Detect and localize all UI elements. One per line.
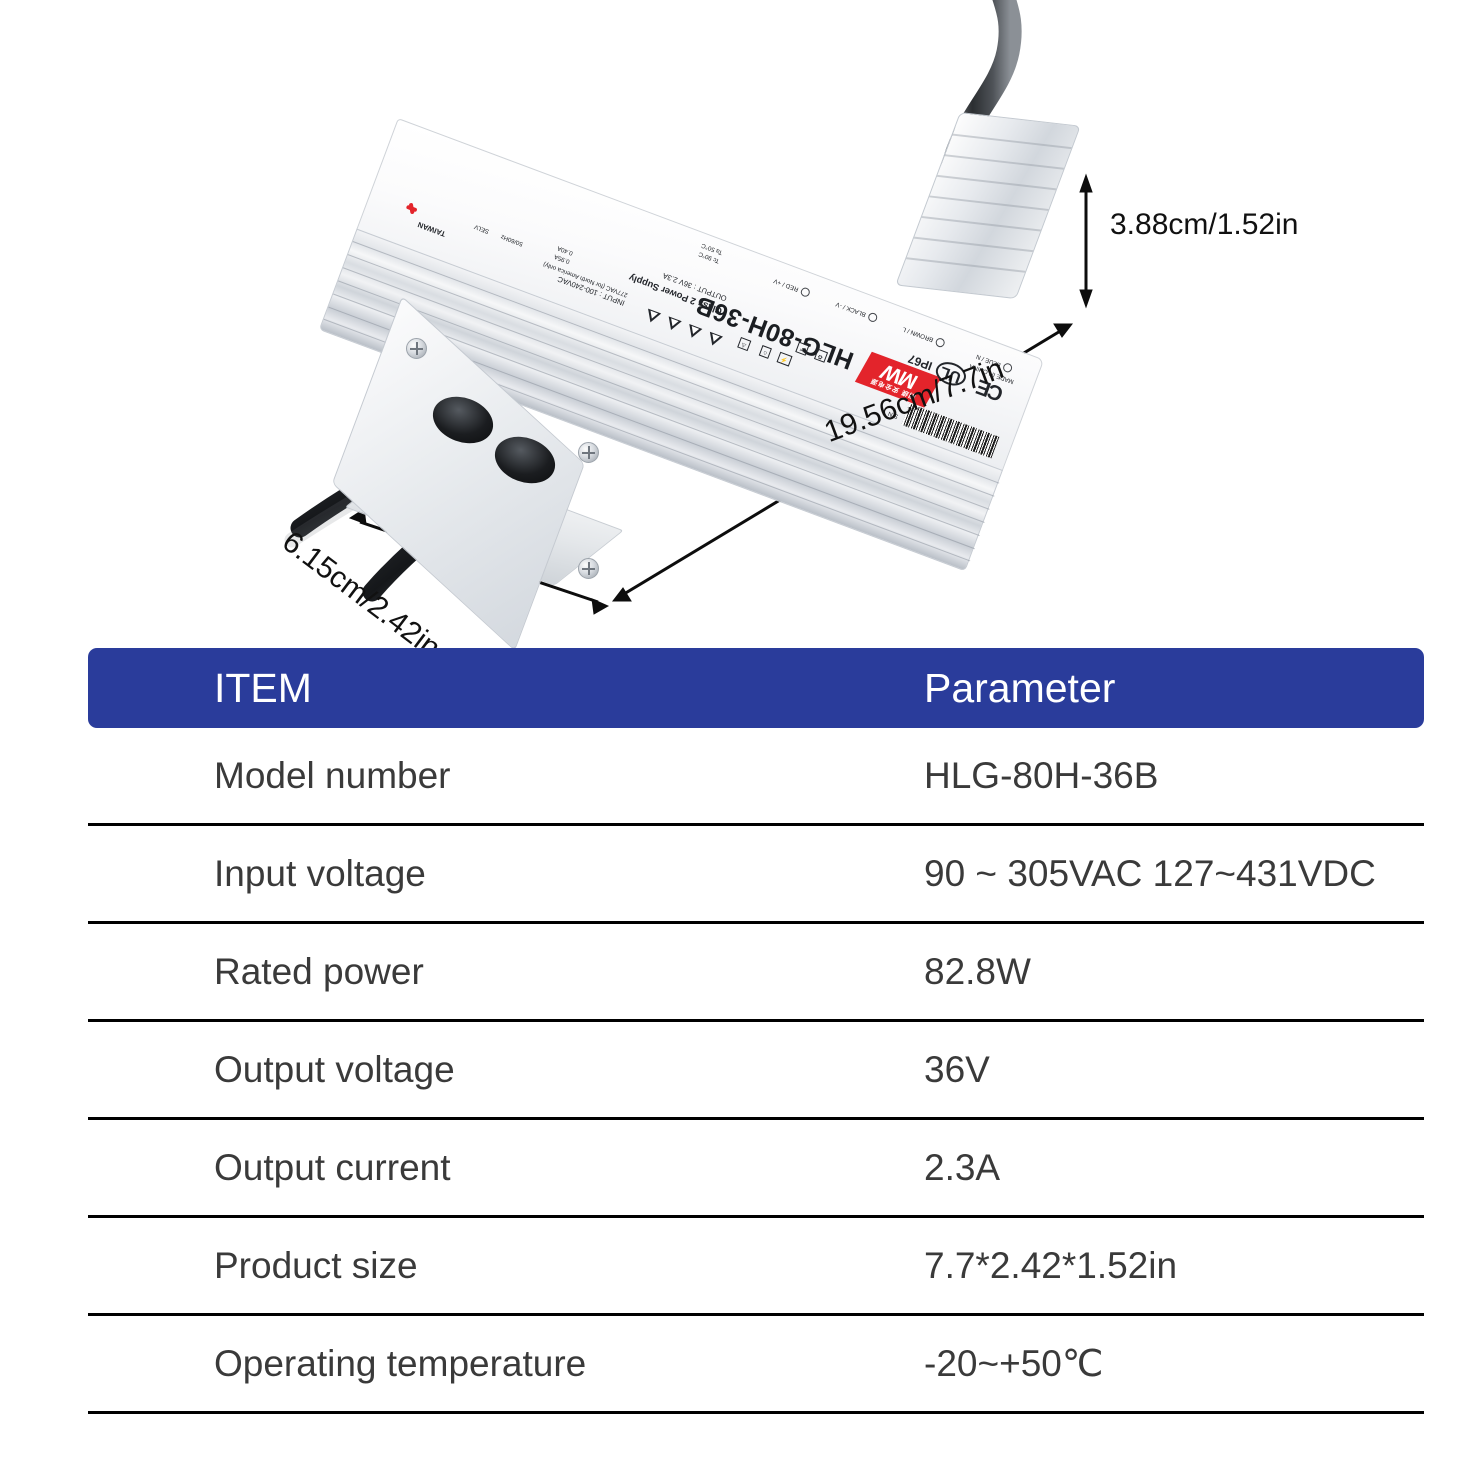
wire-dot-icon-2 xyxy=(934,337,946,349)
specification-table: ITEM Parameter Model number HLG-80H-36B … xyxy=(88,648,1424,1414)
table-row: Product size 7.7*2.42*1.52in xyxy=(88,1218,1424,1316)
label-selv: SELV xyxy=(473,222,490,235)
row-item-label: Product size xyxy=(214,1245,924,1287)
screw-top xyxy=(578,442,599,463)
row-item-label: Operating temperature xyxy=(214,1343,924,1385)
wire-legend-4: RED / +V xyxy=(772,276,811,298)
taiwan-flower-icon xyxy=(404,196,422,217)
table-header-row: ITEM Parameter xyxy=(88,648,1424,728)
row-item-label: Output current xyxy=(214,1147,924,1189)
cert-box-icon-2: ⌂ xyxy=(757,345,772,365)
warning-triangle-icon-4 xyxy=(644,309,661,325)
column-header-parameter: Parameter xyxy=(924,665,1115,712)
row-item-label: Rated power xyxy=(214,951,924,993)
label-input-freq: 50/60Hz xyxy=(500,232,524,248)
row-item-label: Model number xyxy=(214,755,924,797)
table-row: Model number HLG-80H-36B xyxy=(88,728,1424,826)
table-row: Output current 2.3A xyxy=(88,1120,1424,1218)
label-model-text: HLG-80H-36B xyxy=(691,289,857,375)
table-row: Input voltage 90 ~ 305VAC 127~431VDC xyxy=(88,826,1424,924)
screw-bottom xyxy=(578,558,599,579)
row-item-value: 36V xyxy=(924,1049,990,1091)
row-item-value: 2.3A xyxy=(924,1147,1000,1189)
table-row: Operating temperature -20~+50℃ xyxy=(88,1316,1424,1414)
warning-triangle-icon-2 xyxy=(685,324,702,340)
row-item-value: 7.7*2.42*1.52in xyxy=(924,1245,1177,1287)
dimension-arrow-height xyxy=(1080,175,1092,307)
row-item-value: 82.8W xyxy=(924,951,1031,993)
row-item-value: -20~+50℃ xyxy=(924,1342,1103,1385)
table-row: Rated power 82.8W xyxy=(88,924,1424,1022)
column-header-item: ITEM xyxy=(214,665,924,712)
product-photo: HLG-80H-36B 明绬 安全电源 MW S/N Class 2 Power… xyxy=(0,0,1470,650)
wire-legend-2: BROWN / L xyxy=(901,324,946,348)
table-row: Output voltage 36V xyxy=(88,1022,1424,1120)
row-item-label: Input voltage xyxy=(214,853,924,895)
cert-box-icon-3: ⚠ xyxy=(734,337,751,358)
row-item-label: Output voltage xyxy=(214,1049,924,1091)
dimension-label-height: 3.88cm/1.52in xyxy=(1110,208,1298,242)
row-item-value: HLG-80H-36B xyxy=(924,755,1158,797)
screw-side xyxy=(406,338,427,359)
warning-triangle-icon-1 xyxy=(706,332,723,348)
cert-box-icon-1: ⚡ xyxy=(774,352,793,374)
row-item-value: 90 ~ 305VAC 127~431VDC xyxy=(924,853,1376,895)
wire-legend-3: BLACK / -V xyxy=(835,299,879,323)
origin-text: TAIWAN xyxy=(416,220,446,239)
warning-triangle-icon-3 xyxy=(664,316,681,332)
wire-dot-icon-4 xyxy=(800,286,812,298)
wire-dot-icon-3 xyxy=(867,312,879,324)
